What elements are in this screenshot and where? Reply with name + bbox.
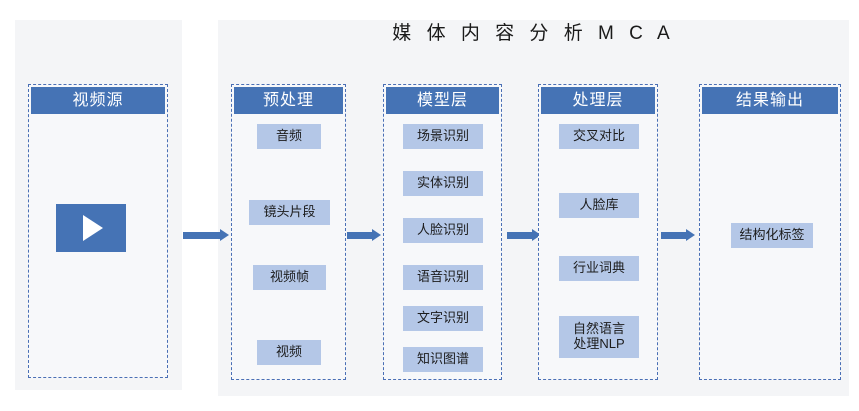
column-video-source: 视频源 <box>28 84 168 378</box>
column-processing-layer: 处理层 交叉对比 人脸库 行业词典 自然语言 处理NLP <box>538 84 658 380</box>
list-item[interactable]: 视频 <box>257 340 321 365</box>
list-item[interactable]: 知识图谱 <box>403 347 483 372</box>
list-item[interactable]: 自然语言 处理NLP <box>559 316 639 358</box>
list-item[interactable]: 视频帧 <box>253 265 326 290</box>
list-item[interactable]: 行业词典 <box>559 256 639 281</box>
list-item[interactable]: 结构化标签 <box>731 223 813 248</box>
column-preprocessing: 预处理 音频 镜头片段 视频帧 视频 <box>231 84 346 380</box>
arrow-model-layer-to-processing-layer <box>507 229 541 241</box>
column-header-model-layer: 模型层 <box>386 87 499 114</box>
arrow-head <box>220 229 229 241</box>
list-item[interactable]: 实体识别 <box>403 171 483 196</box>
play-button-icon[interactable] <box>56 204 126 252</box>
list-item[interactable]: 镜头片段 <box>249 200 330 225</box>
list-item[interactable]: 文字识别 <box>403 306 483 331</box>
arrow-shaft <box>507 232 533 239</box>
arrow-shaft <box>183 232 221 239</box>
diagram-title: 媒 体 内 容 分 析 M C A <box>218 18 849 45</box>
column-result-output: 结果输出 结构化标签 <box>699 84 841 380</box>
column-header-processing-layer: 处理层 <box>541 87 655 114</box>
column-model-layer: 模型层 场景识别 实体识别 人脸识别 语音识别 文字识别 知识图谱 <box>383 84 502 380</box>
list-item[interactable]: 场景识别 <box>403 124 483 149</box>
list-item[interactable]: 音频 <box>257 124 321 149</box>
arrow-head <box>686 229 695 241</box>
play-triangle-icon <box>83 215 103 241</box>
arrow-processing-layer-to-result-output <box>661 229 695 241</box>
list-item[interactable]: 交叉对比 <box>559 124 639 149</box>
arrow-shaft <box>347 232 373 239</box>
arrow-shaft <box>661 232 687 239</box>
list-item[interactable]: 语音识别 <box>403 265 483 290</box>
column-header-video-source: 视频源 <box>31 87 165 114</box>
list-item[interactable]: 人脸库 <box>559 193 639 218</box>
column-header-preprocessing: 预处理 <box>234 87 343 114</box>
column-header-result-output: 结果输出 <box>702 87 838 114</box>
arrow-preprocessing-to-model-layer <box>347 229 381 241</box>
list-item[interactable]: 人脸识别 <box>403 218 483 243</box>
arrow-video-source-to-preprocessing <box>183 229 229 241</box>
arrow-head <box>372 229 381 241</box>
